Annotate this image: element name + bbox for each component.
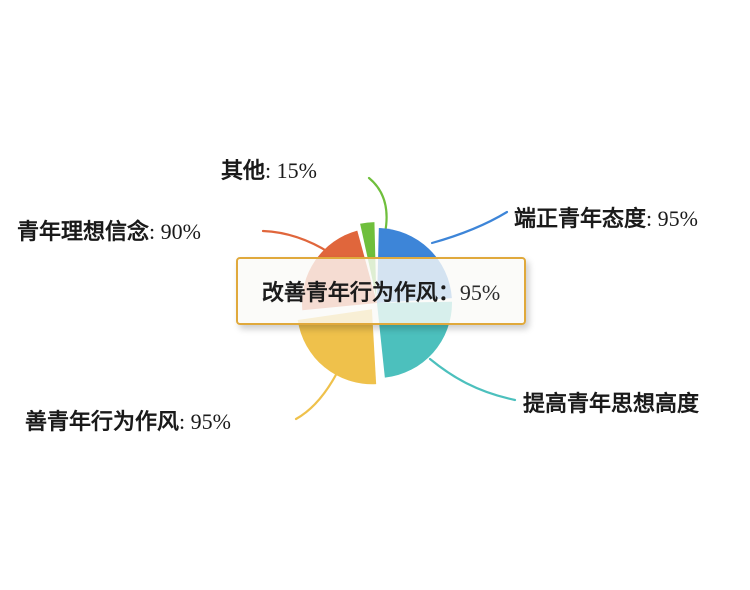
pie-label-ideal-value: 90% xyxy=(161,219,201,244)
pie-tooltip-text: 改善青年行为作风：95% xyxy=(262,275,500,307)
pie-label-thought: 提高青年思想高度 xyxy=(523,393,699,415)
pie-label-behavior-value: 95% xyxy=(191,409,231,434)
pie-label-behavior-separator: : xyxy=(179,409,191,434)
pie-label-other-name: 其他 xyxy=(221,158,265,183)
pie-label-attitude: 端正青年态度: 95% xyxy=(514,208,698,230)
pie-tooltip: 改善青年行为作风：95% xyxy=(236,257,526,325)
leader-line-ideal xyxy=(263,231,330,253)
pie-label-attitude-value: 95% xyxy=(658,206,698,231)
pie-tooltip-separator: ： xyxy=(438,280,460,305)
pie-chart-canvas: 改善青年行为作风：95% 其他: 15% 端正青年态度: 95% 青年理想信念:… xyxy=(0,0,750,590)
pie-label-thought-name: 提高青年思想高度 xyxy=(523,391,699,416)
leader-line-behavior xyxy=(296,371,338,419)
pie-label-attitude-name: 端正青年态度 xyxy=(514,206,646,231)
pie-label-ideal: 青年理想信念: 90% xyxy=(17,221,201,243)
pie-label-ideal-separator: : xyxy=(149,219,161,244)
pie-label-behavior-name: 善青年行为作风 xyxy=(25,409,179,434)
pie-label-ideal-name: 青年理想信念 xyxy=(17,219,149,244)
pie-tooltip-value: 95% xyxy=(460,280,500,305)
pie-label-other-separator: : xyxy=(265,158,277,183)
pie-label-other: 其他: 15% xyxy=(221,160,317,182)
pie-tooltip-name: 改善青年行为作风 xyxy=(262,280,438,305)
pie-label-attitude-separator: : xyxy=(646,206,658,231)
leader-line-thought xyxy=(430,359,515,400)
leader-line-attitude xyxy=(432,212,507,243)
pie-label-other-value: 15% xyxy=(277,158,317,183)
pie-label-behavior: 善青年行为作风: 95% xyxy=(25,411,231,433)
